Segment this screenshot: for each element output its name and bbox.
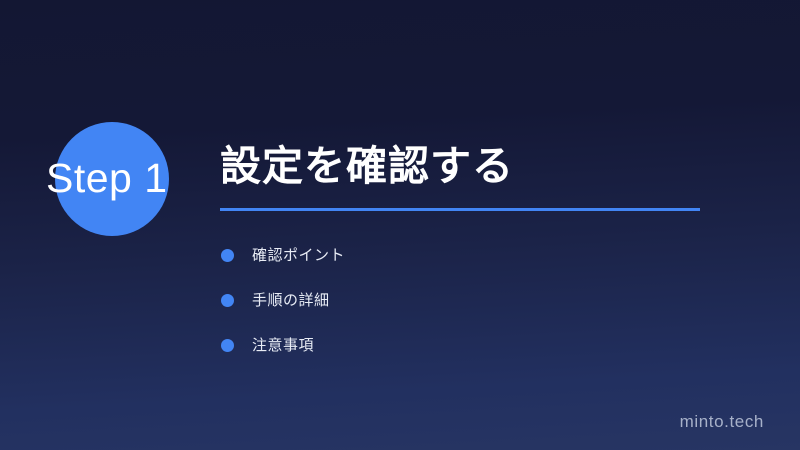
bullet-dot-icon (221, 249, 234, 262)
list-item-label: 手順の詳細 (252, 291, 330, 311)
title-divider (220, 208, 700, 211)
list-item: 確認ポイント (220, 233, 720, 278)
page-title: 設定を確認する (220, 140, 720, 192)
slide-content: 設定を確認する 確認ポイント 手順の詳細 注意事項 (220, 140, 720, 368)
bullet-dot-icon (221, 339, 234, 352)
list-item: 注意事項 (220, 323, 720, 368)
step-number-label: Step 1 (46, 154, 206, 202)
list-item-label: 確認ポイント (252, 246, 345, 266)
footer-watermark: minto.tech (680, 412, 764, 432)
bullet-dot-icon (221, 294, 234, 307)
step-badge: Step 1 (0, 118, 210, 238)
slide-canvas: Step 1 設定を確認する 確認ポイント 手順の詳細 注意事項 minto.t… (0, 0, 800, 450)
list-item: 手順の詳細 (220, 278, 720, 323)
list-item-label: 注意事項 (252, 336, 314, 356)
bullet-list: 確認ポイント 手順の詳細 注意事項 (220, 233, 720, 368)
